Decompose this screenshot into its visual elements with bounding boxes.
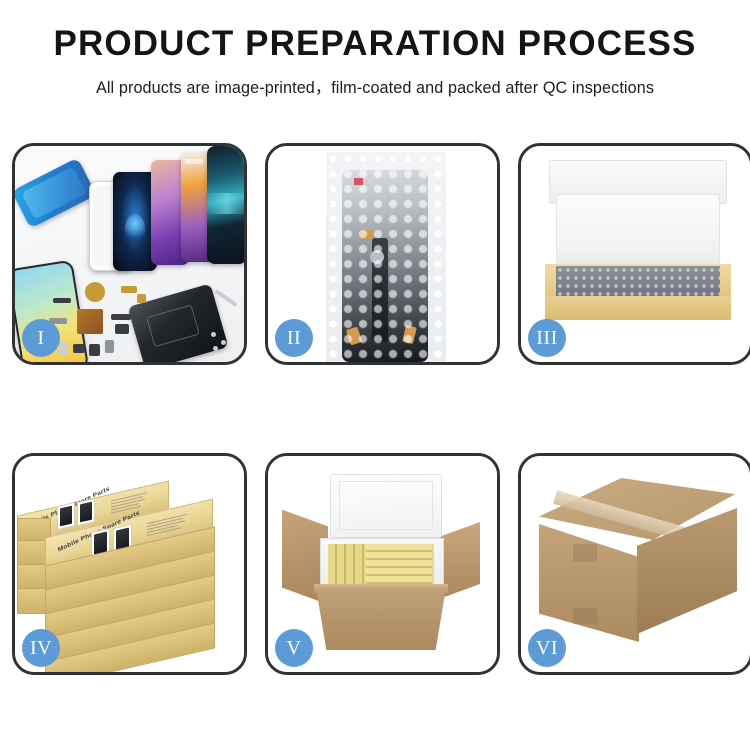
process-step-grid: I II III (12, 143, 738, 675)
panel-stacked-spare-parts-boxes[interactable]: Mobile Phone Spare Parts Mobile Phone Sp… (12, 453, 247, 675)
part-connector-1 (137, 294, 146, 303)
panel-bubble-wrapped-lcd[interactable]: II (265, 143, 500, 365)
grey-bubble-foam (556, 266, 720, 296)
part-flex-cable-2 (111, 314, 131, 320)
box-front-panel (545, 296, 731, 320)
page-title: PRODUCT PREPARATION PROCESS (0, 26, 750, 63)
part-strip-1 (53, 298, 71, 303)
part-module-1 (115, 324, 129, 334)
part-speaker-coil (85, 282, 105, 302)
step-badge-2: II (275, 319, 313, 357)
step-badge-1: I (22, 319, 60, 357)
step-badge-4: IV (22, 629, 60, 667)
step-badge-6: VI (528, 629, 566, 667)
step-badge-3: III (528, 319, 566, 357)
part-module-3 (89, 344, 100, 356)
foam-lid (330, 474, 442, 538)
part-screw-1 (211, 332, 216, 337)
part-chip-grid (77, 309, 103, 334)
part-sim-tray (59, 342, 67, 356)
panel-sealed-shipping-carton[interactable]: VI (518, 453, 750, 675)
box-thumb-rear-1 (57, 502, 75, 530)
part-screw-2 (221, 340, 226, 345)
part-module-2 (73, 344, 85, 353)
panel-phone-screens-and-parts[interactable]: I (12, 143, 247, 365)
part-screw-3 (213, 346, 218, 351)
phone-teal-display (207, 146, 244, 264)
page-header: PRODUCT PREPARATION PROCESS All products… (0, 0, 750, 98)
lcd-red-sticker (354, 178, 363, 185)
lcd-tape-tab-1 (360, 230, 374, 239)
step-badge-5: V (275, 629, 313, 667)
lcd-camera-module (370, 250, 384, 264)
carton-front-panel (316, 588, 446, 650)
panel-open-kraft-box-with-foam[interactable]: III (518, 143, 750, 365)
panel-carton-with-foam-insert[interactable]: V (265, 453, 500, 675)
carton-seam-upper (573, 544, 597, 562)
carton-seam-lower (573, 608, 597, 624)
part-flex-cable-1 (121, 286, 137, 293)
box-thumb-rear-2 (77, 498, 95, 526)
white-foam-sheet (556, 194, 720, 268)
page-subtitle: All products are image-printed，film-coat… (0, 74, 750, 98)
part-module-4 (105, 340, 114, 353)
yellow-boxes-row-2 (366, 544, 432, 586)
